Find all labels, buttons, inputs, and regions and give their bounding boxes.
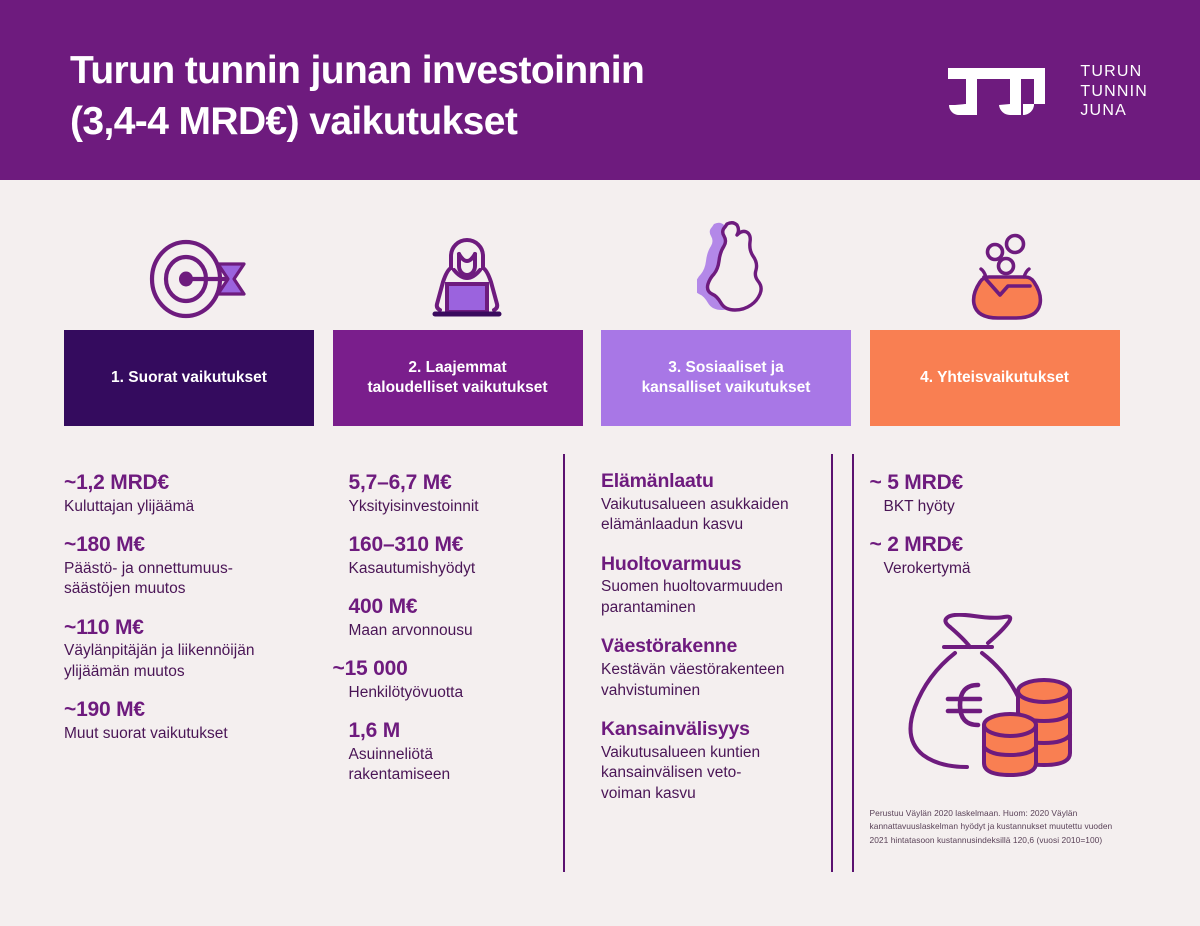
entry-value: ~1,2 MRD€ (64, 470, 314, 496)
entry-value: 160–310 M€ (349, 532, 583, 558)
entry-label: Vaikutusalueen asukkaiden elämänlaadun k… (601, 495, 851, 536)
list-item: Kansainvälisyys Vaikutusalueen kuntien k… (601, 718, 851, 804)
list-item: 5,7–6,7 M€ Yksityisinvestoinnit (349, 470, 583, 517)
list-item: ~ 2 MRD€ Verokertymä (870, 532, 1120, 579)
ttj-logo: TURUN TUNNIN JUNA (948, 62, 1148, 121)
entry-value: ~180 M€ (64, 532, 314, 558)
list-item: Elämänlaatu Vaikutusalueen asukkaiden el… (601, 470, 851, 536)
list-item: ~15 000 Henkilötyövuotta (333, 656, 583, 703)
entry-value: Väestörakenne (601, 635, 851, 659)
coin-purse-icon (958, 230, 1050, 322)
list-item: ~1,2 MRD€ Kuluttajan ylijäämä (64, 470, 314, 517)
list-item: ~110 M€ Väylänpitäjän ja liikennöijän yl… (64, 615, 314, 683)
entry-value: Kansainvälisyys (601, 718, 851, 742)
column-divider (831, 454, 833, 872)
entry-label: Väylänpitäjän ja liikennöijän ylijäämän … (64, 641, 314, 682)
column-laajemmat-taloudelliset-vaikutukset: 2. Laajemmat taloudelliset vaikutukset 5… (333, 212, 602, 912)
list-item: ~180 M€ Päästö- ja onnettumuus- säästöje… (64, 532, 314, 600)
column-2-entries: 5,7–6,7 M€ Yksityisinvestoinnit 160–310 … (333, 454, 583, 786)
column-suorat-vaikutukset: 1. Suorat vaikutukset ~1,2 MRD€ Kuluttaj… (64, 212, 333, 912)
entry-label: Maan arvonnousu (349, 621, 583, 641)
entry-label: Yksityisinvestoinnit (349, 497, 583, 517)
footnote-text: Perustuu Väylän 2020 laskelmaan. Huom: 2… (870, 807, 1116, 847)
entry-label: Henkilötyövuotta (349, 683, 583, 703)
list-item: ~ 5 MRD€ BKT hyöty (870, 470, 1120, 517)
entry-label: Kestävän väestörakenteen vahvistuminen (601, 660, 851, 701)
entry-value: 5,7–6,7 M€ (349, 470, 583, 496)
entry-label: BKT hyöty (884, 497, 1120, 517)
entry-value: Elämänlaatu (601, 470, 851, 494)
person-laptop-icon (421, 234, 513, 322)
entry-label: Päästö- ja onnettumuus- säästöjen muutos (64, 559, 314, 600)
entry-label: Verokertymä (884, 559, 1120, 579)
list-item: ~190 M€ Muut suorat vaikutukset (64, 697, 314, 744)
list-item: Väestörakenne Kestävän väestörakenteen v… (601, 635, 851, 701)
header-banner: Turun tunnin junan investoinnin (3,4-4 M… (0, 0, 1200, 180)
ttj-logo-mark (948, 62, 1066, 120)
column-1-entries: ~1,2 MRD€ Kuluttajan ylijäämä ~180 M€ Pä… (64, 454, 314, 744)
entry-label: Kuluttajan ylijäämä (64, 497, 314, 517)
target-arrow-icon (146, 236, 250, 322)
page-title: Turun tunnin junan investoinnin (3,4-4 M… (70, 46, 830, 147)
column-4-entries: ~ 5 MRD€ BKT hyöty ~ 2 MRD€ Verokertymä (870, 454, 1120, 579)
entry-label: Asuinneliötä rakentamiseen (349, 745, 583, 786)
entry-value: ~15 000 (333, 656, 583, 682)
logo-wordmark: TURUN TUNNIN JUNA (1080, 62, 1148, 121)
entry-value: ~ 5 MRD€ (870, 470, 1120, 496)
columns-container: 1. Suorat vaikutukset ~1,2 MRD€ Kuluttaj… (64, 212, 1138, 912)
entry-label: Kasautumishyödyt (349, 559, 583, 579)
entry-label: Vaikutusalueen kuntien kansainvälisen ve… (601, 743, 851, 804)
entry-value: ~ 2 MRD€ (870, 532, 1120, 558)
list-item: 1,6 M Asuinneliötä rakentamiseen (349, 718, 583, 786)
money-illustration-slot (870, 613, 1120, 781)
column-3-entries: Elämänlaatu Vaikutusalueen asukkaiden el… (601, 454, 851, 804)
entry-value: 400 M€ (349, 594, 583, 620)
list-item: 400 M€ Maan arvonnousu (349, 594, 583, 641)
list-item: Huoltovarmuus Suomen huoltovarmuuden par… (601, 553, 851, 619)
column-1-header: 1. Suorat vaikutukset (64, 330, 314, 426)
column-sosiaaliset-ja-kansalliset-vaikutukset: 3. Sosiaaliset ja kansalliset vaikutukse… (601, 212, 870, 912)
column-1-icon-slot (64, 212, 333, 330)
finland-map-icon (697, 220, 773, 322)
column-divider (852, 454, 854, 872)
entry-label: Muut suorat vaikutukset (64, 724, 314, 744)
infographic-page: Turun tunnin junan investoinnin (3,4-4 M… (0, 0, 1200, 926)
column-2-body: 5,7–6,7 M€ Yksityisinvestoinnit 160–310 … (333, 454, 583, 786)
column-4-body: ~ 5 MRD€ BKT hyöty ~ 2 MRD€ Verokertymä (870, 454, 1120, 847)
column-4-icon-slot (870, 212, 1139, 330)
column-2-icon-slot (333, 212, 602, 330)
column-yhteisvaikutukset: 4. Yhteisvaikutukset ~ 5 MRD€ BKT hyöty … (870, 212, 1139, 912)
entry-label: Suomen huoltovarmuuden parantaminen (601, 577, 851, 618)
entry-value: Huoltovarmuus (601, 553, 851, 577)
column-2-header: 2. Laajemmat taloudelliset vaikutukset (333, 330, 583, 426)
column-3-header: 3. Sosiaaliset ja kansalliset vaikutukse… (601, 330, 851, 426)
column-4-header: 4. Yhteisvaikutukset (870, 330, 1120, 426)
list-item: 160–310 M€ Kasautumishyödyt (349, 532, 583, 579)
column-1-body: ~1,2 MRD€ Kuluttajan ylijäämä ~180 M€ Pä… (64, 454, 314, 744)
column-3-icon-slot (601, 212, 870, 330)
entry-value: 1,6 M (349, 718, 583, 744)
entry-value: ~110 M€ (64, 615, 314, 641)
money-bag-coins-icon (900, 613, 1090, 781)
column-3-body: Elämänlaatu Vaikutusalueen asukkaiden el… (601, 454, 851, 804)
column-divider (563, 454, 565, 872)
entry-value: ~190 M€ (64, 697, 314, 723)
